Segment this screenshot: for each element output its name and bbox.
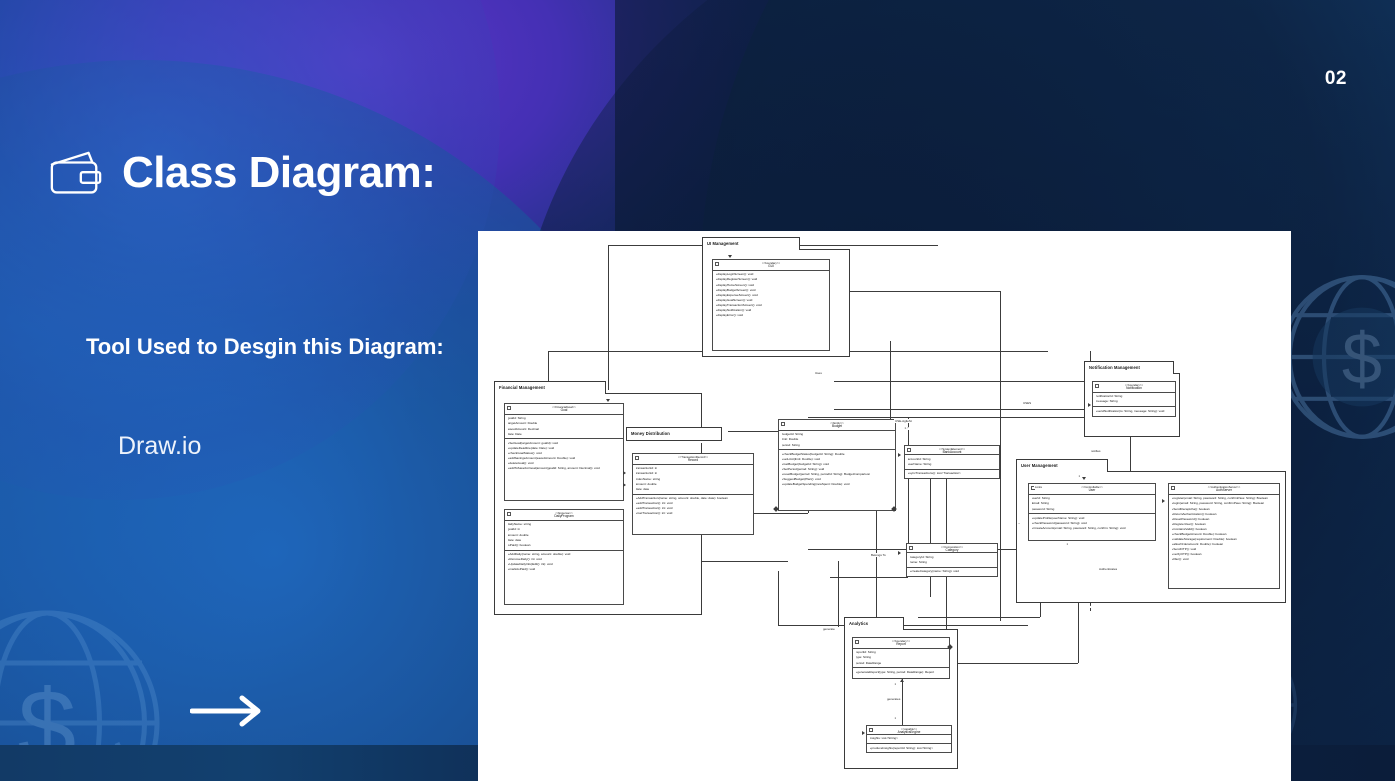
- class-attributes: insights: List<String>: [867, 735, 951, 743]
- class-header: <<SystemElement>> BankAccount: [905, 446, 999, 455]
- class-name: GUI: [715, 265, 827, 269]
- class-dailyprogram[interactable]: <<Expense>> DailyProgram dailyName: stri…: [504, 509, 624, 605]
- class-name: Report: [855, 643, 947, 647]
- class-attributes: transactionId: in transactionId: in inde…: [633, 465, 753, 494]
- arrowhead: [1082, 477, 1086, 480]
- operation: +sendNotification(to: String, message: S…: [1096, 409, 1173, 414]
- arrowhead: [623, 471, 626, 475]
- class-operations: +syncTransactions(): List<Transaction>: [905, 469, 999, 478]
- class-name: AnalyticsEngine: [869, 731, 949, 735]
- connector: [608, 245, 609, 390]
- tool-label: Tool Used to Desgin this Diagram:: [86, 331, 446, 363]
- connector: [838, 561, 839, 627]
- page-title: Class Diagram:: [122, 148, 435, 198]
- operation: +syncTransactions(): List<Transaction>: [908, 471, 997, 476]
- multiplicity: 1: [894, 717, 897, 720]
- class-bankaccount[interactable]: <<SystemElement>> BankAccount accountId:…: [904, 445, 1000, 479]
- svg-text:$: $: [1342, 320, 1382, 400]
- package-label: User Management: [1016, 459, 1108, 472]
- tool-name: Draw.io: [118, 432, 201, 461]
- operation: +GetTransaction(): int: void: [636, 511, 751, 516]
- class-attributes: dailyName: string goalId: in amount: dou…: [505, 521, 623, 550]
- class-gui[interactable]: <<boundary>> GUI +displayLoginScreen(): …: [712, 259, 830, 351]
- class-name: User: [1031, 489, 1153, 493]
- attribute: insights: List<String>: [870, 737, 949, 742]
- class-operations: +AddTransaction(name: string, amount: do…: [633, 494, 753, 519]
- diagram-canvas[interactable]: UI Management <<boundary>> GUI +displayL…: [478, 231, 1291, 781]
- multiplicity: 1: [894, 683, 897, 686]
- class-attributes: notificationId: String message: String: [1093, 393, 1175, 406]
- class-analyticsengine[interactable]: <<capable>> AnalyticsEngine insights: Li…: [866, 725, 952, 753]
- class-name: Record: [635, 459, 751, 463]
- multiplicity: 1: [1066, 543, 1069, 546]
- attribute: message: String: [1096, 400, 1173, 405]
- class-operations: +createCategory(name: String): void: [907, 567, 997, 576]
- class-header: <<AuthenticationServer>> AuthServer: [1169, 484, 1279, 495]
- arrowhead: [623, 483, 626, 487]
- class-header: <<Expense>> DailyProgram: [505, 510, 623, 521]
- class-attributes: accountId: String userName: String: [905, 455, 999, 468]
- attribute: period: String: [782, 443, 893, 448]
- attribute: date: Date: [508, 432, 621, 437]
- connector: [1000, 291, 1001, 621]
- class-authserver[interactable]: <<AuthenticationServer>> AuthServer +reg…: [1168, 483, 1280, 589]
- arrowhead: [898, 551, 901, 555]
- attribute: name: String: [910, 560, 995, 565]
- relationship-label: Uses: [814, 371, 823, 375]
- class-category[interactable]: <<Composition>> Category categoryId: Str…: [906, 543, 998, 577]
- attribute: date: date: [636, 487, 751, 492]
- class-header: <<Composition>> Category: [907, 544, 997, 553]
- arrowhead: [728, 255, 732, 258]
- arrow-right-icon[interactable]: [190, 694, 264, 728]
- attribute: userName: String: [908, 462, 997, 467]
- page-number: 02: [1325, 68, 1347, 90]
- operation: +displayError(): void: [716, 313, 827, 318]
- operation: +markAsPaid(): void: [508, 567, 621, 572]
- class-attributes: categoryId: String name: String: [907, 553, 997, 566]
- package-label: Notification Management: [1084, 361, 1174, 374]
- class-operations: +generateReport(type: String, period: Da…: [853, 667, 949, 676]
- arrowhead: [898, 453, 901, 457]
- class-name: Notification: [1095, 387, 1173, 391]
- class-record[interactable]: <<TransactionRecord>> Record transaction…: [632, 453, 754, 535]
- connector: [902, 679, 903, 725]
- relationship-label: USE-AgileSt: [894, 419, 913, 423]
- class-operations: +checkBudgetStatus(budgetId: String): Do…: [779, 449, 895, 489]
- package-label: Analytics: [844, 617, 904, 630]
- wallet-icon: [48, 149, 104, 197]
- operation: +updateBudgetSpending(newSpent: Double):…: [782, 483, 893, 488]
- class-operations: +displayLoginScreen(): void +displayRegi…: [713, 271, 829, 320]
- class-operations: +register(email: String, password: Strin…: [1169, 495, 1279, 564]
- class-header: <<boundary>> GUI: [713, 260, 829, 271]
- connector: [808, 417, 1098, 418]
- connector: [890, 341, 891, 425]
- multiplicity: *: [1018, 523, 1020, 526]
- attribute: isPaid(): boolean: [508, 543, 621, 548]
- class-name: DailyProgram: [507, 515, 621, 519]
- class-attributes: userId: String Email: String password: S…: [1029, 495, 1155, 513]
- package-label: Financial Management: [494, 381, 606, 394]
- multiplicity: 1: [1078, 475, 1081, 478]
- class-header: <<TransactionRecord>> Record: [633, 454, 753, 465]
- class-header: <<boundary>> Report: [853, 638, 949, 649]
- relationship-label: Authenticates: [1098, 567, 1118, 571]
- relationship-label: generate: [822, 627, 836, 631]
- slide-title-row: Class Diagram:: [48, 148, 435, 198]
- class-name: AuthServer: [1171, 489, 1277, 493]
- class-attributes: reportId: String type: String period: Da…: [853, 649, 949, 667]
- operation: +generateReport(type: String, period: Da…: [856, 670, 947, 675]
- multiplicity: 1..*: [904, 427, 909, 430]
- class-report[interactable]: <<boundary>> Report reportId: String typ…: [852, 637, 950, 679]
- arrowhead: [862, 731, 865, 735]
- class-operations: +produceInsights(reportId: String): List…: [867, 743, 951, 752]
- class-name: BankAccount: [907, 451, 997, 455]
- class-budget[interactable]: <<Entity>> Budget budgetId: String limit…: [778, 419, 896, 511]
- attribute: password: String: [1032, 507, 1153, 512]
- relationship-label: USES: [1022, 401, 1032, 405]
- connector: [930, 477, 931, 597]
- class-header: <<boundary>> Notification: [1093, 382, 1175, 393]
- attribute: period: DateRange: [856, 661, 947, 666]
- class-goal[interactable]: <<FinancialGoal>> Goal goalId: String ta…: [504, 403, 624, 501]
- class-operations: +AddDaily(name: string, amount: double):…: [505, 550, 623, 575]
- generalization-arrow: [900, 679, 904, 682]
- class-name: Budget: [781, 425, 893, 429]
- class-diagram: UI Management <<boundary>> GUI +displayL…: [478, 231, 1291, 781]
- relationship-label: generates: [886, 697, 901, 701]
- class-user[interactable]: <<Controllable>> User userId: String Ema…: [1028, 483, 1156, 541]
- connector: [778, 571, 779, 625]
- arrowhead: [1162, 499, 1165, 503]
- class-header: <<capable>> AnalyticsEngine: [867, 726, 951, 735]
- operation: +produceInsights(reportId: String): List…: [870, 746, 949, 751]
- connector: [830, 577, 908, 578]
- class-header: <<Entity>> Budget: [779, 420, 895, 431]
- operation: +filter(): void: [1172, 558, 1277, 563]
- package-money-distribution: Money Distribution: [626, 427, 728, 443]
- class-name: Category: [909, 549, 995, 553]
- class-operations: +SetGoal(targetAmount: goalId): void +up…: [505, 438, 623, 473]
- package-label: Money Distribution: [626, 427, 722, 441]
- class-notification[interactable]: <<boundary>> Notification notificationId…: [1092, 381, 1176, 417]
- operation: +CreateAccount(email: String, password: …: [1032, 526, 1153, 531]
- class-operations: +sendNotification(to: String, message: S…: [1093, 406, 1175, 415]
- class-operations: +updateProfile(userName: String): void +…: [1029, 513, 1155, 532]
- connector: [834, 409, 1090, 410]
- arrowhead: [1088, 403, 1091, 407]
- class-name: Goal: [507, 409, 621, 413]
- class-header: <<FinancialGoal>> Goal: [505, 404, 623, 415]
- relationship-label: Belongs To: [870, 553, 887, 557]
- class-attributes: budgetId: String limit: Double period: S…: [779, 431, 895, 449]
- connector: [918, 617, 1040, 618]
- arrowhead: [606, 399, 610, 402]
- relationship-label: notifies: [1090, 449, 1102, 453]
- operation: +createCategory(name: String): void: [910, 569, 995, 574]
- package-label: UI Management: [702, 237, 800, 250]
- relationship-label: Links: [1034, 485, 1043, 489]
- operation: +addToSaveForGoal(amount(goalId: String,…: [508, 467, 621, 472]
- class-header: <<Controllable>> User: [1029, 484, 1155, 495]
- class-attributes: goalId: String targetAmount: Double save…: [505, 415, 623, 439]
